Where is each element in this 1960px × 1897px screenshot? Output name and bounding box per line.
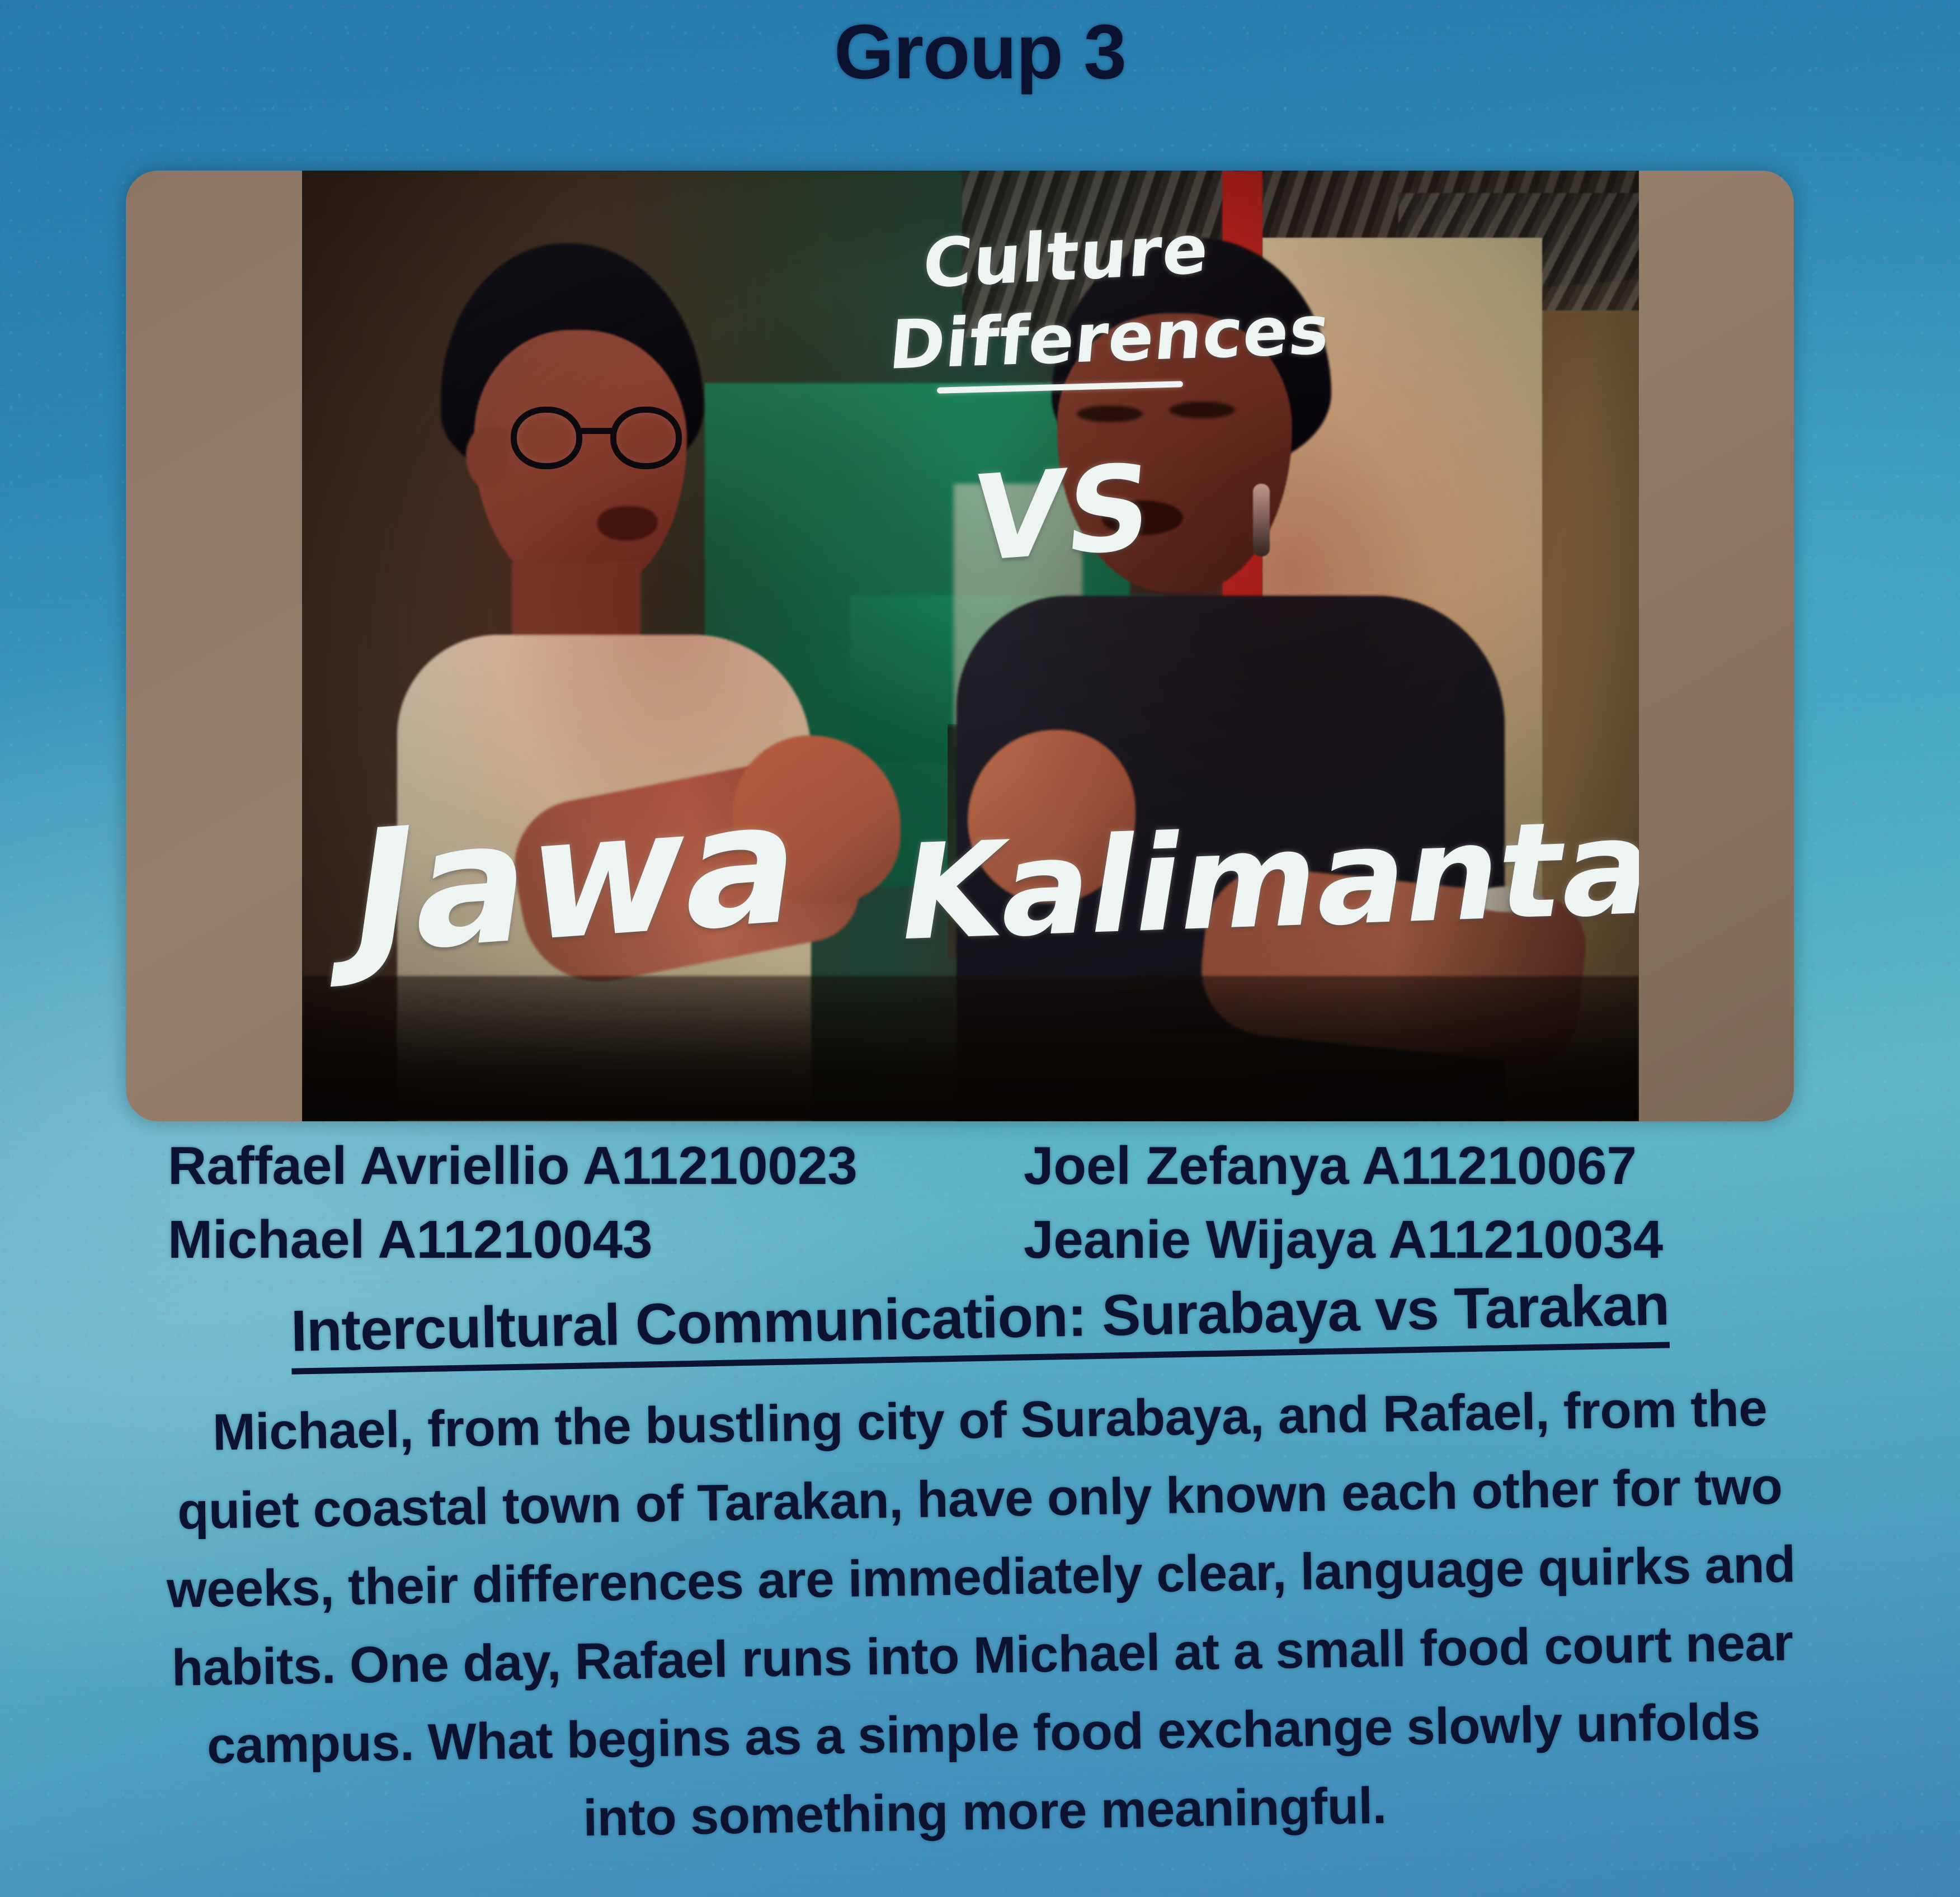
member-name: Joel Zefanya A11210067 <box>1024 1135 1637 1197</box>
member-list: Raffael Avriellio A11210023 Joel Zefanya… <box>0 1135 1960 1283</box>
page-title: Group 3 <box>0 8 1960 97</box>
handwritten-jawa-label: Jawa <box>339 763 814 992</box>
synopsis-paragraph: Michael, from the bustling city of Surab… <box>47 1367 1917 1866</box>
handwritten-culture-text: Culture <box>920 210 1212 303</box>
section-heading: Intercultural Communication: Surabaya vs… <box>0 1285 1960 1361</box>
handwritten-vs-text: VS <box>968 438 1160 589</box>
member-row-1: Raffael Avriellio A11210023 Joel Zefanya… <box>0 1135 1960 1209</box>
photo-card: Culture Differences VS Jawa Kalimantan <box>126 171 1794 1121</box>
member-name: Michael A11210043 <box>168 1209 652 1271</box>
section-heading-text: Intercultural Communication: Surabaya vs… <box>290 1272 1670 1374</box>
video-still: Culture Differences VS Jawa Kalimantan <box>302 171 1639 1121</box>
handwritten-differences-text: Differences <box>886 291 1333 385</box>
member-name: Jeanie Wijaya A11210034 <box>1024 1209 1663 1271</box>
handwritten-kalimantan-label: Kalimantan <box>889 787 1639 970</box>
poster-background: Group 3 <box>0 0 1960 1897</box>
member-name: Raffael Avriellio A11210023 <box>168 1135 858 1197</box>
